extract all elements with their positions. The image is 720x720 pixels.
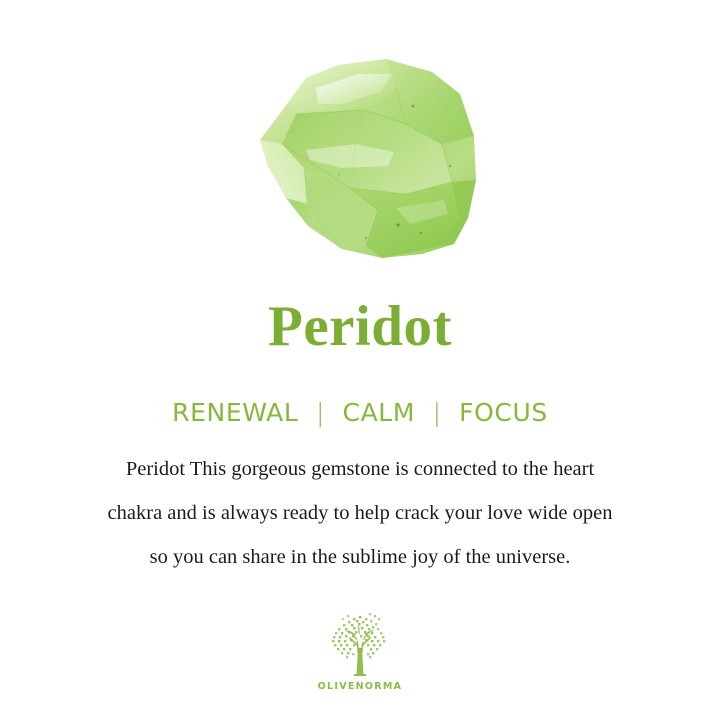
tree-icon bbox=[323, 612, 397, 680]
product-title: Peridot bbox=[0, 298, 720, 355]
keyword-separator-2: | bbox=[424, 398, 451, 427]
product-keywords: RENEWAL | CALM | FOCUS bbox=[0, 398, 720, 427]
peridot-gemstone-image bbox=[246, 48, 486, 276]
keyword-calm: CALM bbox=[343, 398, 415, 427]
description-line: so you can share in the sublime joy of t… bbox=[18, 535, 702, 579]
brand-logo: OLIVENORMA bbox=[0, 612, 720, 692]
description-line: chakra and is always ready to help crack… bbox=[18, 491, 702, 535]
product-info-card: Peridot RENEWAL | CALM | FOCUS Peridot T… bbox=[0, 0, 720, 720]
keyword-renewal: RENEWAL bbox=[172, 398, 298, 427]
keyword-focus: FOCUS bbox=[459, 398, 548, 427]
keyword-separator-1: | bbox=[307, 398, 334, 427]
description-line: Peridot This gorgeous gemstone is connec… bbox=[18, 447, 702, 491]
product-description: Peridot This gorgeous gemstone is connec… bbox=[18, 447, 702, 579]
brand-name: OLIVENORMA bbox=[0, 681, 720, 692]
